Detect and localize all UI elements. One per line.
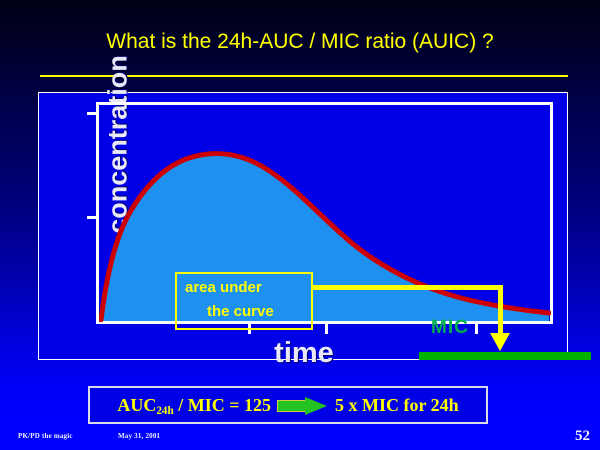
- connector-horizontal-segment: [311, 285, 503, 290]
- equation-box: AUC24h / MIC = 125 5 x MIC for 24h: [88, 386, 488, 424]
- y-axis-tick: [87, 112, 97, 115]
- x-axis-tick: [325, 324, 328, 334]
- plot-area: [96, 102, 553, 324]
- equation-content: AUC24h / MIC = 125 5 x MIC for 24h: [90, 388, 486, 422]
- down-arrow-icon: [490, 333, 510, 351]
- mic-label: MIC: [431, 317, 469, 339]
- arrow-shaft: [277, 400, 307, 412]
- auc-text: AUC: [117, 395, 156, 415]
- connector-vertical-segment: [498, 285, 503, 337]
- slide: What is the 24h-AUC / MIC ratio (AUIC) ?…: [0, 0, 600, 450]
- equation-left-suffix: / MIC = 125: [174, 395, 271, 415]
- page-number: 52: [575, 428, 590, 445]
- callout-line-2: the curve: [207, 303, 274, 320]
- x-axis-tick: [475, 324, 478, 334]
- mic-threshold-line: [419, 352, 591, 360]
- area-under-curve-callout: area under the curve: [175, 272, 313, 330]
- arrow-head: [305, 397, 327, 415]
- green-right-arrow-icon: [277, 397, 329, 414]
- footer-source-label: PK/PD the magic: [18, 432, 73, 440]
- auc-subscript: 24h: [156, 405, 173, 417]
- callout-line-1: area under: [185, 279, 262, 296]
- chart-panel: concentration time area under the curve: [38, 92, 568, 360]
- equation-right-term: 5 x MIC for 24h: [335, 395, 459, 416]
- page-title: What is the 24h-AUC / MIC ratio (AUIC) ?: [0, 30, 600, 54]
- y-axis-tick: [87, 216, 97, 219]
- footer-date: May 31, 2001: [118, 432, 160, 440]
- equation-left-term: AUC24h / MIC = 125: [117, 395, 271, 416]
